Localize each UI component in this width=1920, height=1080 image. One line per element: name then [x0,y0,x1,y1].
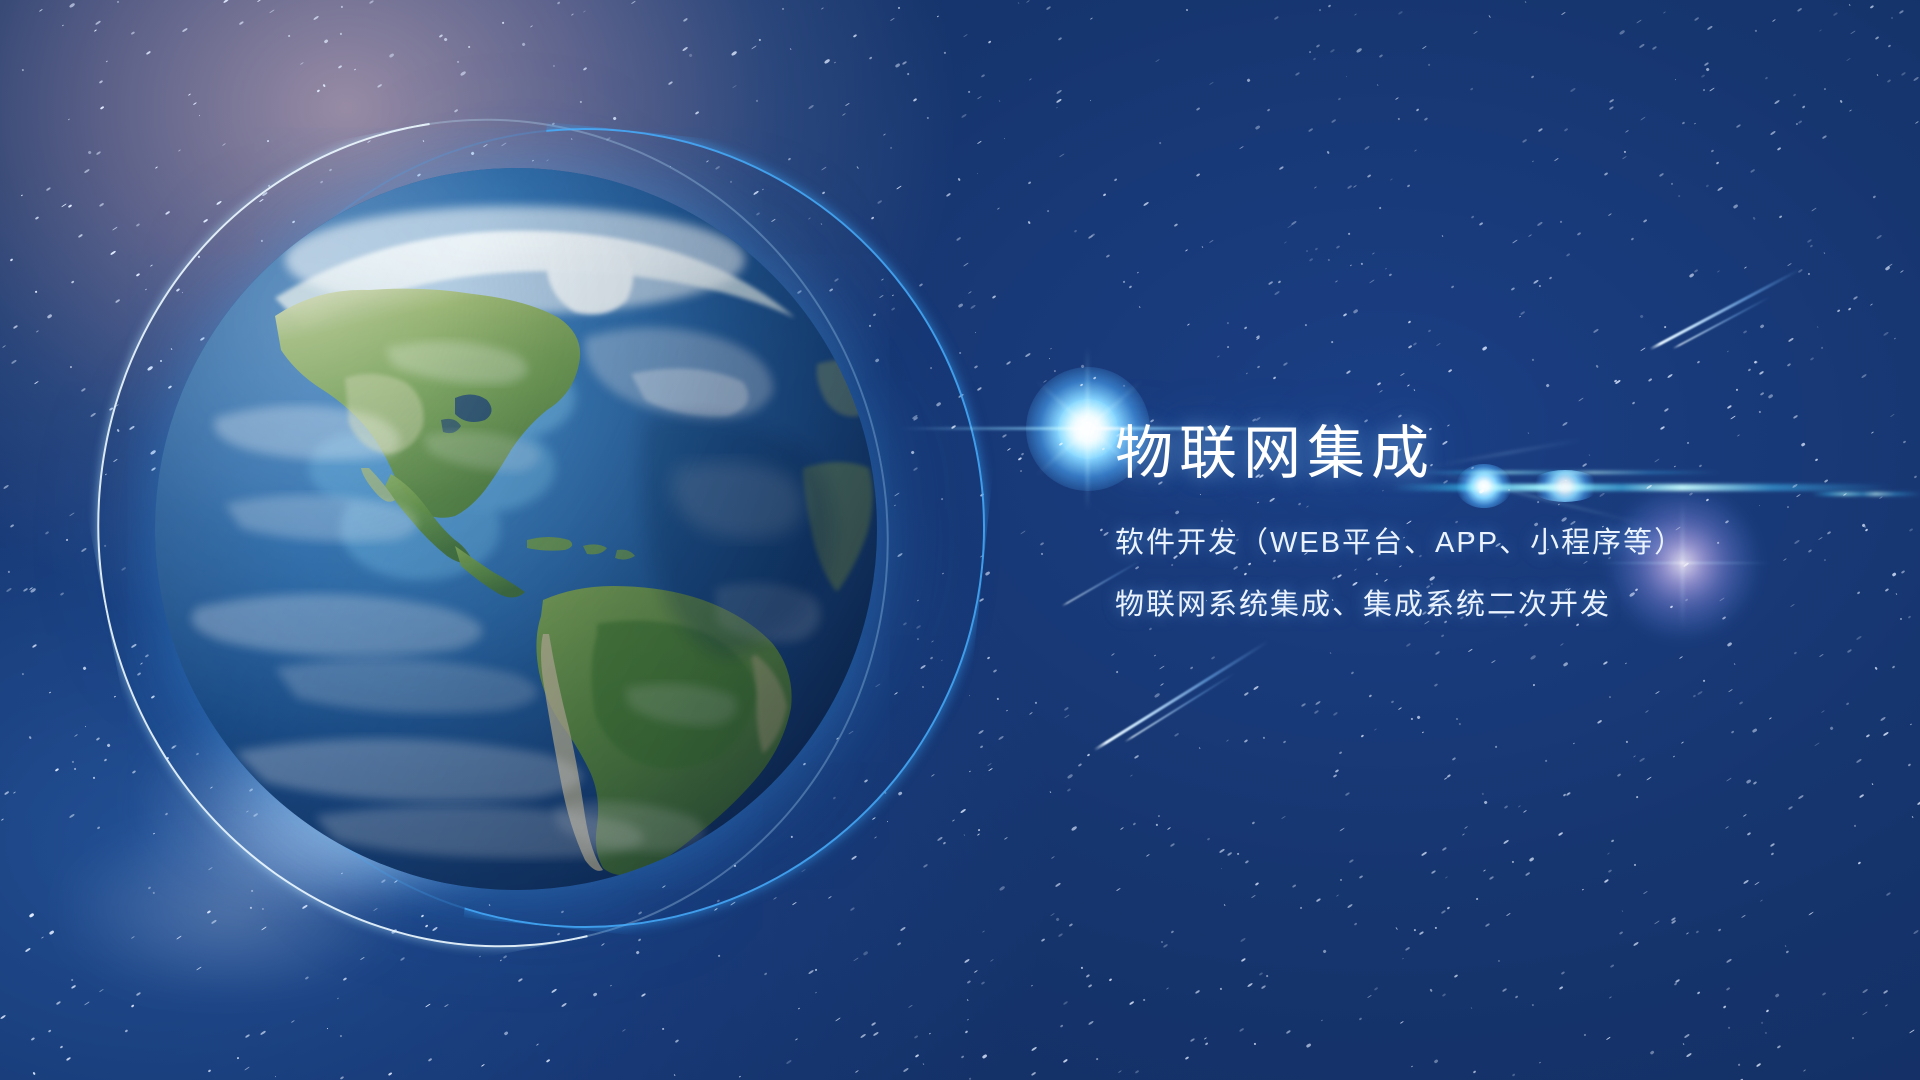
comet-streak [1649,268,1801,350]
subtitle-line-1: 软件开发（WEB平台、APP、小程序等） [1115,519,1685,561]
comet-streak [1124,672,1235,743]
globe-sphere [155,168,877,890]
cyan-streak-flare [1812,492,1920,496]
lens-flare-halo [1058,399,1118,459]
subtitle-line-2: 物联网系统集成、集成系统二次开发 [1115,581,1685,623]
earth-globe [155,168,877,890]
comet-streak [1672,296,1770,349]
comet-streak [1093,640,1268,751]
hero-banner: 物联网集成 软件开发（WEB平台、APP、小程序等） 物联网系统集成、集成系统二… [0,0,1920,1080]
text-block: 物联网集成 软件开发（WEB平台、APP、小程序等） 物联网系统集成、集成系统二… [1115,424,1685,623]
continents-map [155,168,877,890]
lens-flare-ray-vertical [1086,348,1089,510]
page-title: 物联网集成 [1115,424,1685,483]
